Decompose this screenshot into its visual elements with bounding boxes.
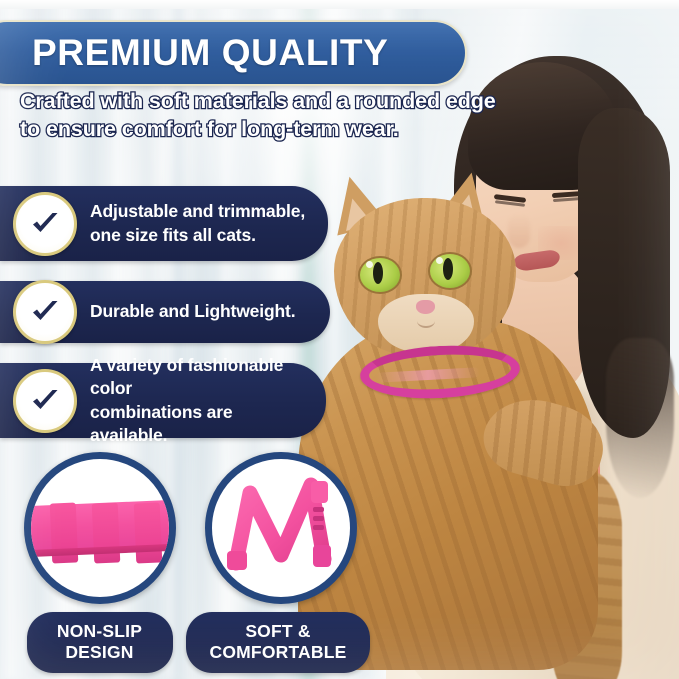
cat-nose — [416, 300, 435, 314]
check-icon — [13, 280, 77, 344]
feature-non-slip: NON-SLIP DESIGN — [18, 452, 181, 673]
collar-folded-m-image — [205, 452, 357, 604]
bullet-item: A variety of fashionable color combinati… — [0, 363, 326, 438]
feature-label-line-1: NON-SLIP — [37, 621, 163, 642]
feature-soft-comfortable: SOFT & COMFORTABLE — [199, 452, 362, 673]
check-icon — [13, 192, 77, 256]
top-border — [0, 0, 679, 9]
cat-mouth — [417, 314, 435, 328]
bullet-line-2: one size fits all cats. — [90, 224, 305, 247]
feature-label: NON-SLIP DESIGN — [27, 612, 173, 673]
bullet-item: Adjustable and trimmable, one size fits … — [0, 186, 328, 261]
subtitle-line-2: to ensure comfort for long-term wear. — [20, 116, 540, 144]
cat-pupil-right — [443, 258, 453, 280]
bullet-item: Durable and Lightweight. — [0, 281, 330, 343]
cat-pupil-left — [373, 262, 383, 284]
bullet-line-1: Durable and Lightweight. — [90, 300, 295, 323]
feature-label: SOFT & COMFORTABLE — [186, 612, 370, 673]
check-icon — [13, 369, 77, 433]
subtitle-line-1: Crafted with soft materials and a rounde… — [20, 88, 540, 116]
subtitle-text: Crafted with soft materials and a rounde… — [20, 88, 540, 143]
banner-title: PREMIUM QUALITY — [32, 32, 388, 74]
bullet-text: Adjustable and trimmable, one size fits … — [90, 200, 305, 247]
hair-strand — [606, 338, 674, 498]
collar-strap-band-image — [24, 452, 176, 604]
premium-quality-banner: PREMIUM QUALITY — [0, 20, 467, 86]
strap-segment — [91, 502, 120, 563]
strap-segment — [133, 502, 162, 563]
feature-bullet-list: Adjustable and trimmable, one size fits … — [0, 186, 330, 458]
bullet-line-2: combinations are available. — [90, 401, 310, 448]
cat-eye-highlight-left — [366, 261, 373, 268]
feature-label-line-2: COMFORTABLE — [196, 642, 360, 663]
bullet-line-1: Adjustable and trimmable, — [90, 200, 305, 223]
bullet-line-1: A variety of fashionable color — [90, 354, 310, 401]
feature-label-line-1: SOFT & — [196, 621, 360, 642]
feature-label-line-2: DESIGN — [37, 642, 163, 663]
cat-eye-highlight-right — [436, 257, 443, 264]
m-shaped-collar — [212, 459, 350, 597]
bullet-text: Durable and Lightweight. — [90, 300, 295, 323]
bullet-text: A variety of fashionable color combinati… — [90, 354, 310, 448]
product-infographic: PREMIUM QUALITY Crafted with soft materi… — [0, 0, 679, 679]
feature-highlights: NON-SLIP DESIGN — [18, 452, 368, 673]
